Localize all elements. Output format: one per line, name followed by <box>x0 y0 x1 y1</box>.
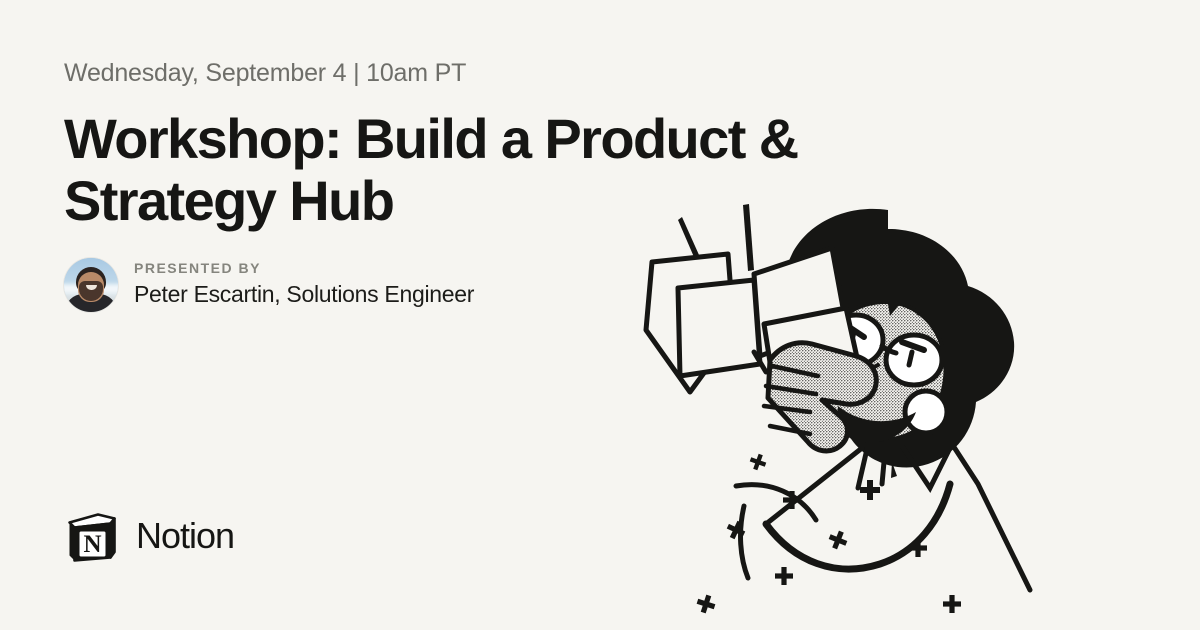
presenter-name: Peter Escartin, Solutions Engineer <box>134 281 474 309</box>
jaw-shadow <box>838 406 916 443</box>
arm <box>736 485 816 520</box>
presented-by-label: PRESENTED BY <box>134 261 474 276</box>
face <box>810 264 946 440</box>
shirt-body <box>766 484 950 569</box>
earring <box>905 391 947 433</box>
hand <box>764 343 876 451</box>
notion-logo-lockup: N Notion <box>64 508 234 564</box>
hair-back <box>778 209 1014 468</box>
smile <box>844 386 870 393</box>
shirt-pattern-crosses <box>695 452 961 616</box>
collar-notch <box>891 462 897 478</box>
eyebrows <box>846 325 924 350</box>
nose <box>848 364 878 369</box>
notion-wordmark: Notion <box>136 518 234 554</box>
avatar <box>64 258 118 312</box>
person-reading-book-illustration <box>640 200 1200 630</box>
presenter-block: PRESENTED BY Peter Escartin, Solutions E… <box>64 258 474 312</box>
glasses-icon <box>818 315 942 385</box>
book-spine <box>754 352 766 372</box>
wrist <box>741 506 748 578</box>
event-date-time: Wednesday, September 4 | 10am PT <box>64 58 466 88</box>
page-title: Workshop: Build a Product & Strategy Hub <box>64 108 884 232</box>
shirt-collar <box>766 436 1030 590</box>
eyes <box>851 332 912 365</box>
text-column: Wednesday, September 4 | 10am PT Worksho… <box>64 0 724 630</box>
presenter-text: PRESENTED BY Peter Escartin, Solutions E… <box>134 261 474 309</box>
ear <box>792 359 826 404</box>
svg-text:N: N <box>83 531 101 558</box>
notion-cube-icon: N <box>64 508 120 564</box>
webinar-promo-banner: Wednesday, September 4 | 10am PT Worksho… <box>0 0 1200 630</box>
